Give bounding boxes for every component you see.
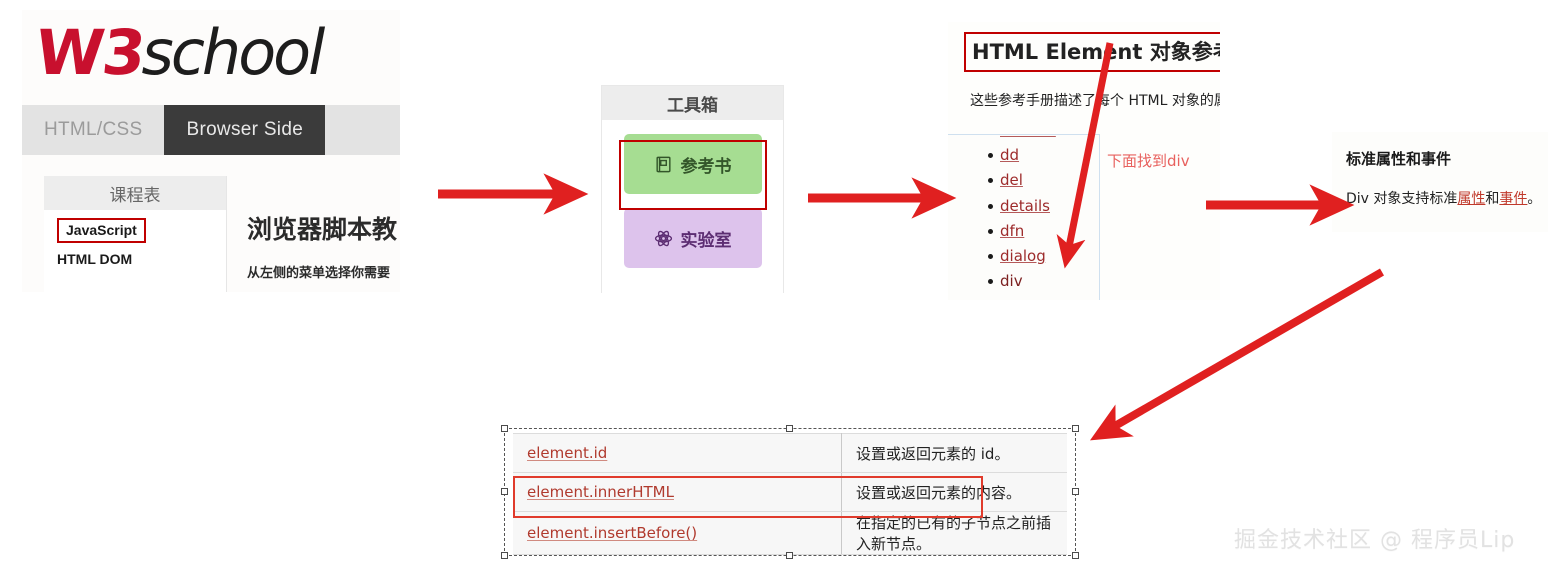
resize-handle-bottom-center[interactable] — [786, 552, 793, 559]
selection-dashed-border — [504, 428, 1076, 556]
sidebar-title: 课程表 — [44, 176, 226, 210]
attributes-title: 标准属性和事件 — [1346, 148, 1451, 169]
standard-attributes-panel: 标准属性和事件 Div 对象支持标准属性和事件。 — [1332, 132, 1548, 232]
page-subtitle: 从左侧的菜单选择你需要 — [247, 262, 400, 281]
attr-desc-suffix: 。 — [1527, 191, 1541, 207]
laboratory-button[interactable]: 实验室 — [624, 208, 762, 268]
list-item[interactable]: dfn — [1000, 219, 1056, 244]
list-item[interactable]: datalist — [1000, 134, 1056, 143]
toolbox-title: 工具箱 — [602, 86, 783, 120]
tab-browser-side[interactable]: Browser Side — [164, 105, 325, 155]
sidebar-item-javascript[interactable]: JavaScript — [57, 218, 146, 243]
attributes-link[interactable]: 属性 — [1457, 191, 1485, 207]
laboratory-label: 实验室 — [681, 226, 732, 251]
attr-desc-prefix: Div 对象支持标准 — [1346, 191, 1457, 207]
atom-icon — [654, 229, 673, 248]
find-div-annotation: 下面找到div — [1107, 150, 1190, 171]
element-list: datalist dd del details dfn dialog div — [948, 134, 1056, 294]
list-item[interactable]: dialog — [1000, 244, 1056, 269]
dom-table-selection[interactable]: element.id 设置或返回元素的 id。 element.innerHTM… — [504, 428, 1076, 556]
sidebar-item-html-dom[interactable]: HTML DOM — [44, 245, 226, 273]
resize-handle-middle-left[interactable] — [501, 488, 508, 495]
resize-handle-middle-right[interactable] — [1072, 488, 1079, 495]
element-list-box[interactable]: datalist dd del details dfn dialog div — [948, 134, 1100, 300]
list-item[interactable]: dd — [1000, 143, 1056, 168]
page-title: 浏览器脚本教 — [247, 210, 400, 246]
resize-handle-top-center[interactable] — [786, 425, 793, 432]
resize-handle-top-right[interactable] — [1072, 425, 1079, 432]
w3school-navbar: HTML/CSS Browser Side — [22, 105, 400, 155]
reference-title: HTML Element 对象参考手册 — [964, 32, 1220, 72]
logo-school-text: school — [142, 16, 323, 89]
list-item[interactable]: details — [1000, 194, 1056, 219]
logo-w3-text: W3 — [32, 16, 147, 89]
attr-desc-mid: 和 — [1485, 191, 1499, 207]
resize-handle-top-left[interactable] — [501, 425, 508, 432]
diagram-canvas: W3school HTML/CSS Browser Side 课程表 JavaS… — [0, 0, 1551, 578]
w3school-screenshot-panel: W3school HTML/CSS Browser Side 课程表 JavaS… — [22, 10, 400, 292]
reference-book-highlight-box — [619, 140, 767, 210]
tab-html-css[interactable]: HTML/CSS — [22, 105, 164, 155]
w3school-logo: W3school — [36, 14, 322, 90]
events-link[interactable]: 事件 — [1499, 191, 1527, 207]
watermark-text: 掘金技术社区 @ 程序员Lip — [1234, 522, 1515, 554]
reference-description: 这些参考手册描述了每个 HTML 对象的属 — [970, 90, 1220, 110]
resize-handle-bottom-left[interactable] — [501, 552, 508, 559]
w3school-sidebar: 课程表 JavaScript HTML DOM — [44, 176, 227, 292]
list-item[interactable]: del — [1000, 168, 1056, 193]
attributes-description: Div 对象支持标准属性和事件。 — [1346, 188, 1541, 208]
resize-handle-bottom-right[interactable] — [1072, 552, 1079, 559]
w3school-content: 浏览器脚本教 从左侧的菜单选择你需要 — [247, 210, 400, 281]
list-item-div[interactable]: div — [1000, 269, 1056, 294]
